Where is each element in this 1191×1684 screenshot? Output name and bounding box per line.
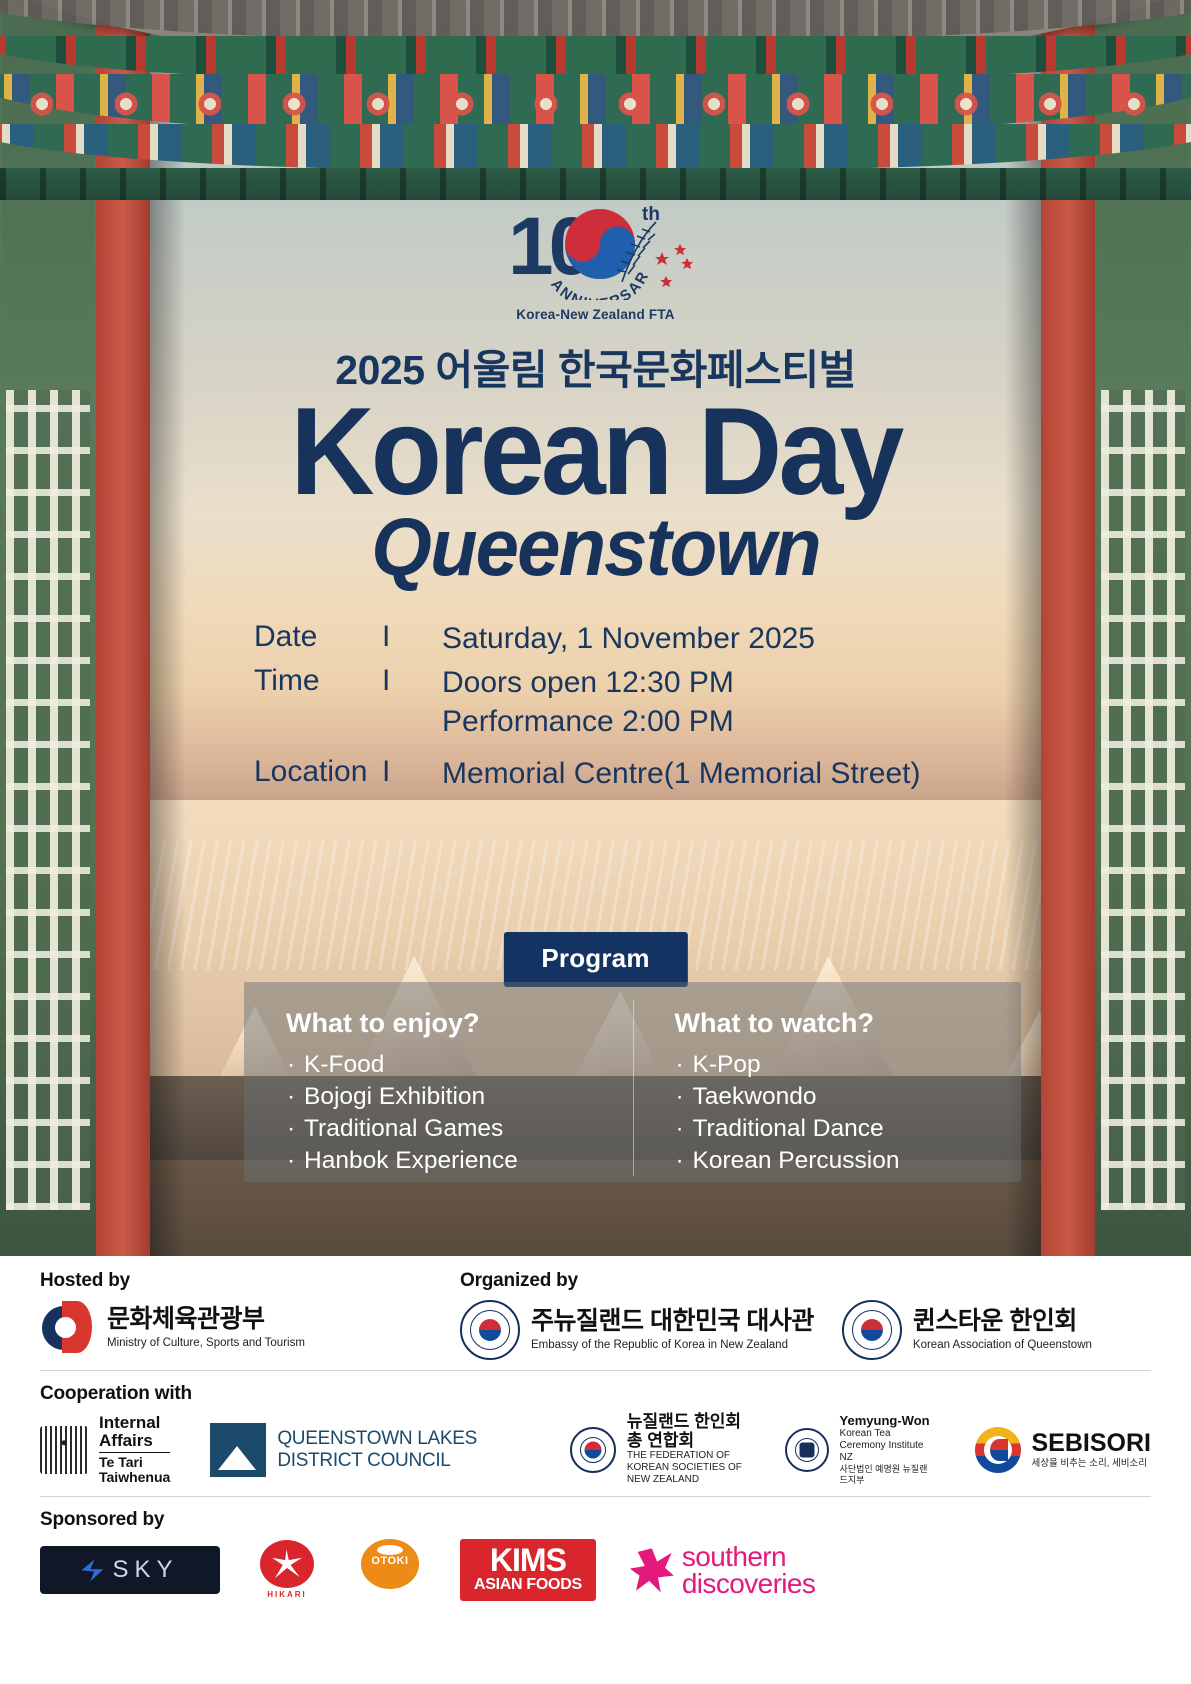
- logo-yemyungwon: Yemyung-Won Korean Tea Ceremony Institut…: [785, 1414, 935, 1486]
- mcst-swirl-icon: [40, 1300, 96, 1356]
- sponsored-by-title: Sponsored by: [40, 1509, 1151, 1531]
- detail-value-time: Doors open 12:30 PM Performance 2:00 PM: [442, 664, 734, 741]
- detail-row-date: Date I Saturday, 1 November 2025: [254, 620, 920, 658]
- logo-kaq: 퀸스타운 한인회 Korean Association of Queenstow…: [842, 1300, 1092, 1360]
- detail-label-time: Time: [254, 664, 382, 698]
- logo-mcst: 문화체육관광부 Ministry of Culture, Sports and …: [40, 1300, 460, 1356]
- program-item: Traditional Dance: [675, 1113, 1022, 1145]
- page-title: Korean Day: [177, 388, 1015, 517]
- detail-value-location: Memorial Centre(1 Memorial Street): [442, 755, 920, 793]
- detail-label-location: Location: [254, 755, 382, 789]
- qldc-name: QUEENSTOWN LAKES DISTRICT COUNCIL: [277, 1428, 530, 1471]
- program-item: Taekwondo: [675, 1081, 1022, 1113]
- kims-name-alt: ASIAN FOODS: [474, 1576, 582, 1594]
- sky-name: SKY: [112, 1556, 178, 1584]
- detail-separator: I: [382, 755, 442, 789]
- hikari-name: HIKARI: [267, 1590, 307, 1599]
- embassy-name-ko: 주뉴질랜드 대한민국 대사관: [531, 1308, 814, 1336]
- discoveries-name: discoveries: [682, 1570, 815, 1597]
- sky-mark-icon: [81, 1559, 103, 1581]
- logo-qldc: QUEENSTOWN LAKES DISTRICT COUNCIL: [210, 1423, 530, 1477]
- anniversary-caption: Korea-New Zealand FTA: [150, 307, 1041, 322]
- sebisori-mark-icon: [975, 1427, 1021, 1473]
- kaq-name-ko: 퀸스타운 한인회: [913, 1308, 1092, 1336]
- program-heading-watch: What to watch?: [675, 1008, 1022, 1039]
- kaq-name-en: Korean Association of Queenstown: [913, 1338, 1092, 1352]
- internal-affairs-name-alt: Te Tari Taiwhenua: [99, 1455, 170, 1486]
- kaq-seal-icon: [842, 1300, 902, 1360]
- anniversary-logo: 10 th: [150, 196, 1041, 322]
- event-details: Date I Saturday, 1 November 2025 Time I …: [254, 620, 920, 800]
- hikari-flower-icon: [260, 1540, 314, 1588]
- detail-row-location: Location I Memorial Centre(1 Memorial St…: [254, 755, 920, 793]
- logo-hikari: HIKARI: [254, 1540, 320, 1600]
- logo-embassy: 주뉴질랜드 대한민국 대사관 Embassy of the Republic o…: [460, 1300, 814, 1360]
- yemyungwon-name-alt: Korean Tea Ceremony Institute NZ: [840, 1428, 935, 1464]
- program-item: Korean Percussion: [675, 1145, 1022, 1177]
- cooperation-block: Cooperation with Internal Affairs Te Tar…: [0, 1371, 1191, 1486]
- program-item: Traditional Games: [286, 1113, 633, 1145]
- logo-otoki: [354, 1539, 426, 1601]
- program-item: Hanbok Experience: [286, 1145, 633, 1177]
- fkanz-seal-icon: [570, 1427, 616, 1473]
- logo-internal-affairs: Internal Affairs Te Tari Taiwhenua: [40, 1414, 170, 1486]
- program-heading-enjoy: What to enjoy?: [286, 1008, 633, 1039]
- organized-by-title: Organized by: [460, 1270, 1151, 1292]
- program-item: Bojogi Exhibition: [286, 1081, 633, 1113]
- hosted-by-block: Hosted by 문화체육관광부 Ministry of Culture, S…: [40, 1270, 460, 1360]
- sponsored-block: Sponsored by SKY HIKARI KIMS ASIAN FOODS: [0, 1497, 1191, 1601]
- poster: 10 th: [0, 0, 1191, 1684]
- page-subtitle: Queenstown: [172, 505, 1018, 591]
- detail-separator: I: [382, 620, 442, 654]
- embassy-name-en: Embassy of the Republic of Korea in New …: [531, 1338, 814, 1352]
- fkanz-name-ko: 뉴질랜드 한인회 총 연합회: [627, 1413, 745, 1450]
- kims-name: KIMS: [474, 1545, 582, 1575]
- program-column-watch: What to watch? K-Pop Taekwondo Tradition…: [633, 1008, 1022, 1182]
- detail-value-date: Saturday, 1 November 2025: [442, 620, 815, 658]
- logo-fkanz: 뉴질랜드 한인회 총 연합회 THE FEDERATION OF KOREAN …: [570, 1413, 745, 1486]
- fkanz-name-en: THE FEDERATION OF KOREAN SOCIETIES OF NE…: [627, 1450, 745, 1486]
- logo-sky: SKY: [40, 1546, 220, 1594]
- mcst-name-en: Ministry of Culture, Sports and Tourism: [107, 1336, 305, 1350]
- organized-by-block: Organized by 주뉴질랜드 대한민국 대사관 Embassy of t…: [460, 1270, 1151, 1360]
- svg-text:th: th: [642, 204, 660, 225]
- logo-southern-discoveries: southern discoveries: [630, 1543, 815, 1598]
- program-tab-label: Program: [503, 932, 687, 987]
- anniversary-mark-icon: 10 th: [490, 196, 702, 300]
- program-item: K-Pop: [675, 1049, 1022, 1081]
- program-column-enjoy: What to enjoy? K-Food Bojogi Exhibition …: [244, 1008, 633, 1182]
- footer-partners-row: Hosted by 문화체육관광부 Ministry of Culture, S…: [0, 1256, 1191, 1360]
- detail-row-time: Time I Doors open 12:30 PM Performance 2…: [254, 664, 920, 741]
- yemyungwon-teacup-icon: [785, 1428, 829, 1472]
- nz-coat-of-arms-icon: [40, 1426, 88, 1474]
- mcst-name-ko: 문화체육관광부: [107, 1306, 305, 1334]
- sebisori-name-ko: 세상을 비추는 소리, 세비소리: [1032, 1458, 1151, 1469]
- footer: Hosted by 문화체육관광부 Ministry of Culture, S…: [0, 1256, 1191, 1684]
- embassy-seal-icon: [460, 1300, 520, 1360]
- program-item: K-Food: [286, 1049, 633, 1081]
- otoki-mark-icon: [361, 1539, 419, 1589]
- logo-kims: KIMS ASIAN FOODS: [460, 1539, 596, 1601]
- sebisori-name-en: SEBISORI: [1032, 1430, 1151, 1458]
- program-content: What to enjoy? K-Food Bojogi Exhibition …: [244, 982, 1021, 1182]
- logo-sebisori: SEBISORI 세상을 비추는 소리, 세비소리: [975, 1427, 1151, 1473]
- yemyungwon-name-en: Yemyung-Won: [840, 1414, 935, 1428]
- hero-section: 10 th: [0, 0, 1191, 1256]
- yemyungwon-name-ko: 사단법인 예명원 뉴질랜드지부: [840, 1464, 935, 1486]
- hosted-by-title: Hosted by: [40, 1270, 460, 1292]
- qldc-mountain-icon: [210, 1423, 266, 1477]
- hero-content: 10 th: [150, 0, 1041, 1256]
- detail-separator: I: [382, 664, 442, 698]
- southern-name: southern: [682, 1543, 815, 1570]
- southern-discoveries-burst-icon: [630, 1548, 674, 1592]
- internal-affairs-name: Internal Affairs: [99, 1414, 170, 1453]
- cooperation-title: Cooperation with: [40, 1383, 1151, 1405]
- detail-label-date: Date: [254, 620, 382, 654]
